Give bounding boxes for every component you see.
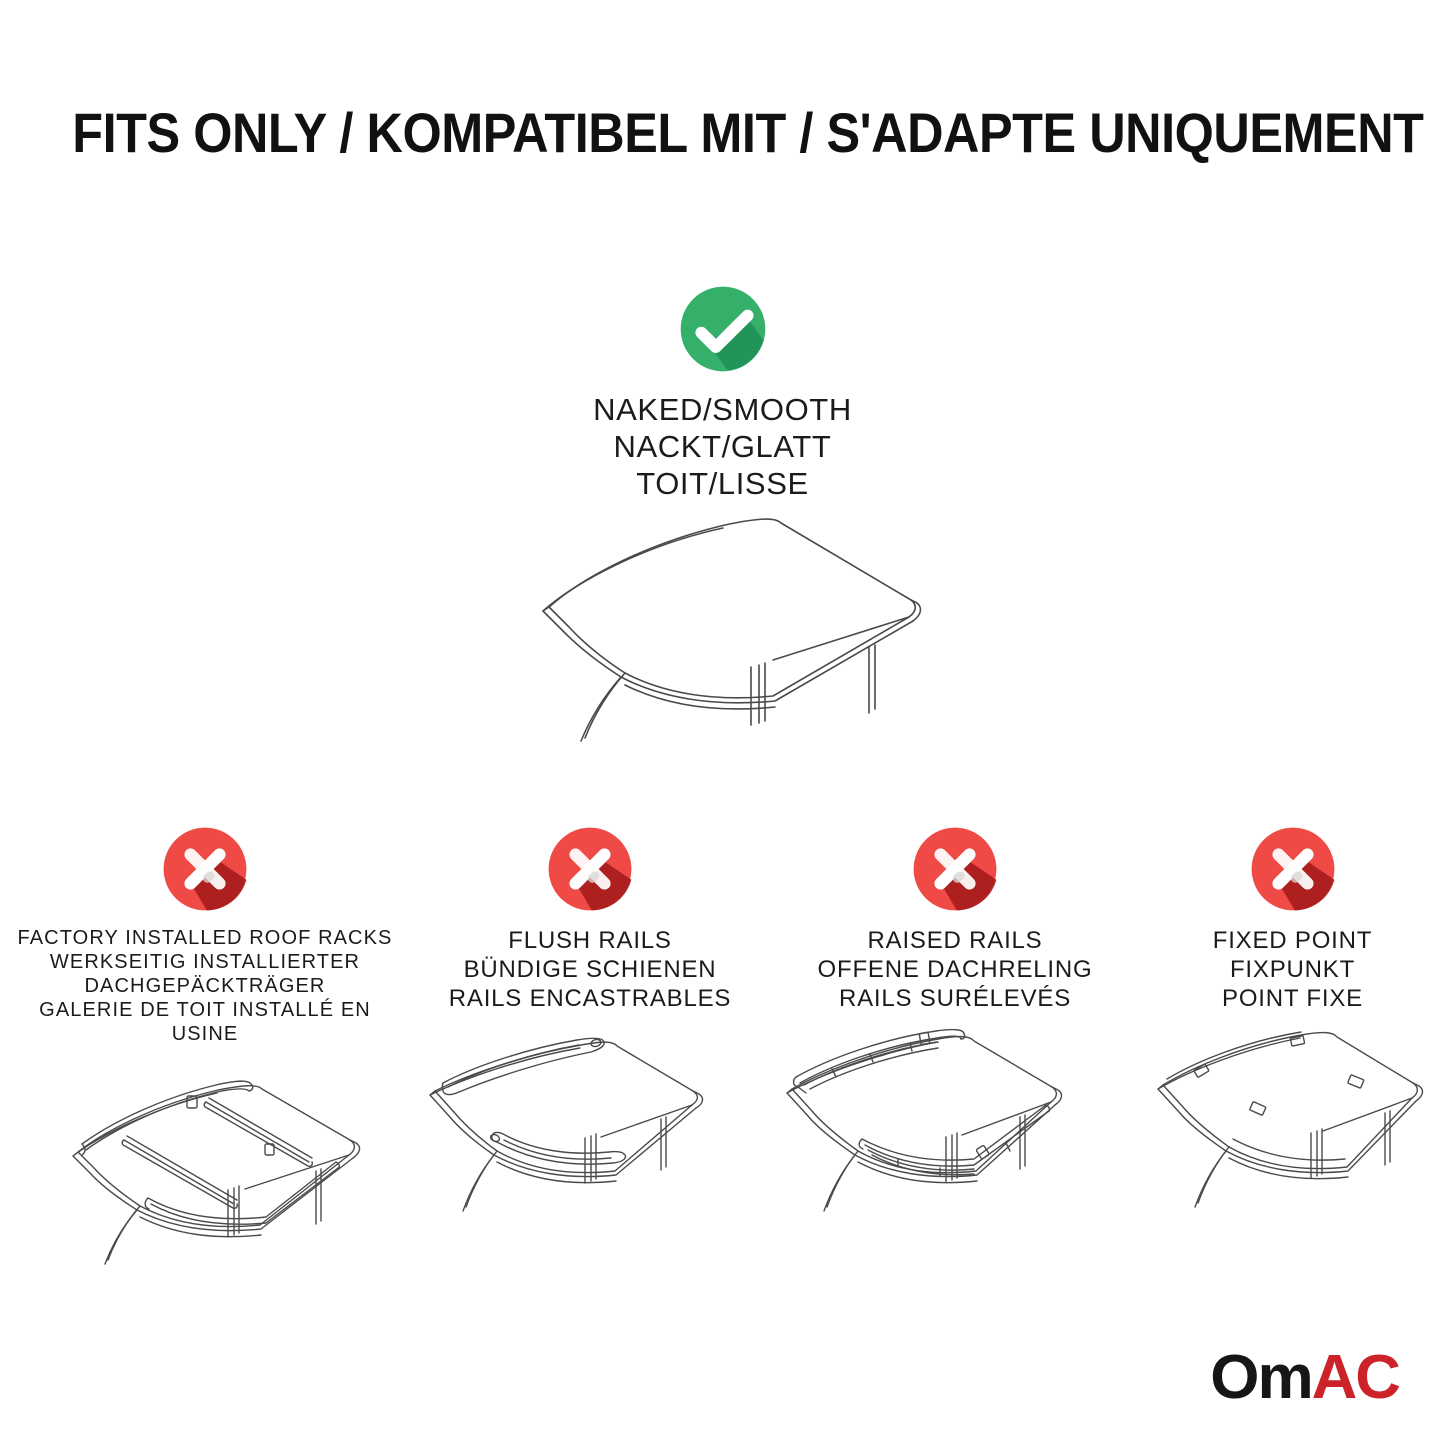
caption-line-en: RAISED RAILS (818, 926, 1093, 955)
compatible-section: NAKED/SMOOTH NACKT/GLATT TOIT/LISSE (0, 283, 1445, 502)
compatible-caption: NAKED/SMOOTH NACKT/GLATT TOIT/LISSE (593, 391, 852, 502)
illustration-raised-rails (770, 1027, 1140, 1247)
cross-circle-icon (160, 824, 250, 914)
caption-line-de-1: WERKSEITIG INSTALLIERTER (10, 950, 400, 974)
compatible-line-de: NACKT/GLATT (593, 428, 852, 465)
compatible-line-en: NAKED/SMOOTH (593, 391, 852, 428)
incompatible-caption-flush-rails: FLUSH RAILS BÜNDIGE SCHIENEN RAILS ENCAS… (449, 926, 732, 1013)
caption-line-en: FIXED POINT (1213, 926, 1372, 955)
page-title: FITS ONLY / KOMPATIBEL MIT / S'ADAPTE UN… (72, 103, 1373, 163)
caption-line-fr: GALERIE DE TOIT INSTALLÉ EN USINE (10, 998, 400, 1046)
incompatible-caption-fixed-point: FIXED POINT FIXPUNKT POINT FIXE (1213, 926, 1372, 1013)
car-roof-factory-installed-racks-drawing (20, 1060, 390, 1280)
car-roof-flush-rails-drawing (405, 1027, 775, 1247)
caption-line-de: OFFENE DACHRELING (818, 955, 1093, 984)
incompatible-item-factory-racks: FACTORY INSTALLED ROOF RACKS WERKSEITIG … (0, 824, 410, 1280)
caption-line-de-2: DACHGEPÄCKTRÄGER (10, 974, 400, 998)
omac-logo-red-part: AC (1312, 1347, 1399, 1409)
caption-line-de: BÜNDIGE SCHIENEN (449, 955, 732, 984)
infographic-canvas: FITS ONLY / KOMPATIBEL MIT / S'ADAPTE UN… (0, 0, 1445, 1445)
cross-circle-icon (545, 824, 635, 914)
caption-line-fr: RAILS ENCASTRABLES (449, 984, 732, 1013)
caption-line-fr: POINT FIXE (1213, 984, 1372, 1013)
cross-circle-icon (1248, 824, 1338, 914)
omac-logo: OmAC (1210, 1347, 1399, 1409)
incompatible-item-fixed-point: FIXED POINT FIXPUNKT POINT FIXE (1140, 824, 1445, 1247)
cross-circle-icon (910, 824, 1000, 914)
car-roof-fixed-point-drawing (1133, 1027, 1445, 1247)
caption-line-en: FACTORY INSTALLED ROOF RACKS (10, 926, 400, 950)
car-roof-raised-rails-drawing (770, 1027, 1140, 1247)
incompatible-caption-raised-rails: RAISED RAILS OFFENE DACHRELING RAILS SUR… (818, 926, 1093, 1013)
caption-line-de: FIXPUNKT (1213, 955, 1372, 984)
check-circle-icon (677, 283, 769, 375)
illustration-fixed-point (1133, 1027, 1445, 1247)
incompatible-item-raised-rails: RAISED RAILS OFFENE DACHRELING RAILS SUR… (770, 824, 1140, 1247)
omac-logo-black-part: Om (1210, 1347, 1311, 1409)
caption-line-en: FLUSH RAILS (449, 926, 732, 955)
incompatible-item-flush-rails: FLUSH RAILS BÜNDIGE SCHIENEN RAILS ENCAS… (410, 824, 770, 1247)
compatible-illustration (0, 495, 1445, 760)
incompatible-caption-factory-racks: FACTORY INSTALLED ROOF RACKS WERKSEITIG … (10, 926, 400, 1046)
incompatible-section: FACTORY INSTALLED ROOF RACKS WERKSEITIG … (0, 824, 1445, 1280)
illustration-flush-rails (405, 1027, 775, 1247)
illustration-factory-racks (20, 1060, 390, 1280)
car-roof-naked-smooth-drawing (473, 495, 973, 760)
caption-line-fr: RAILS SURÉLEVÉS (818, 984, 1093, 1013)
